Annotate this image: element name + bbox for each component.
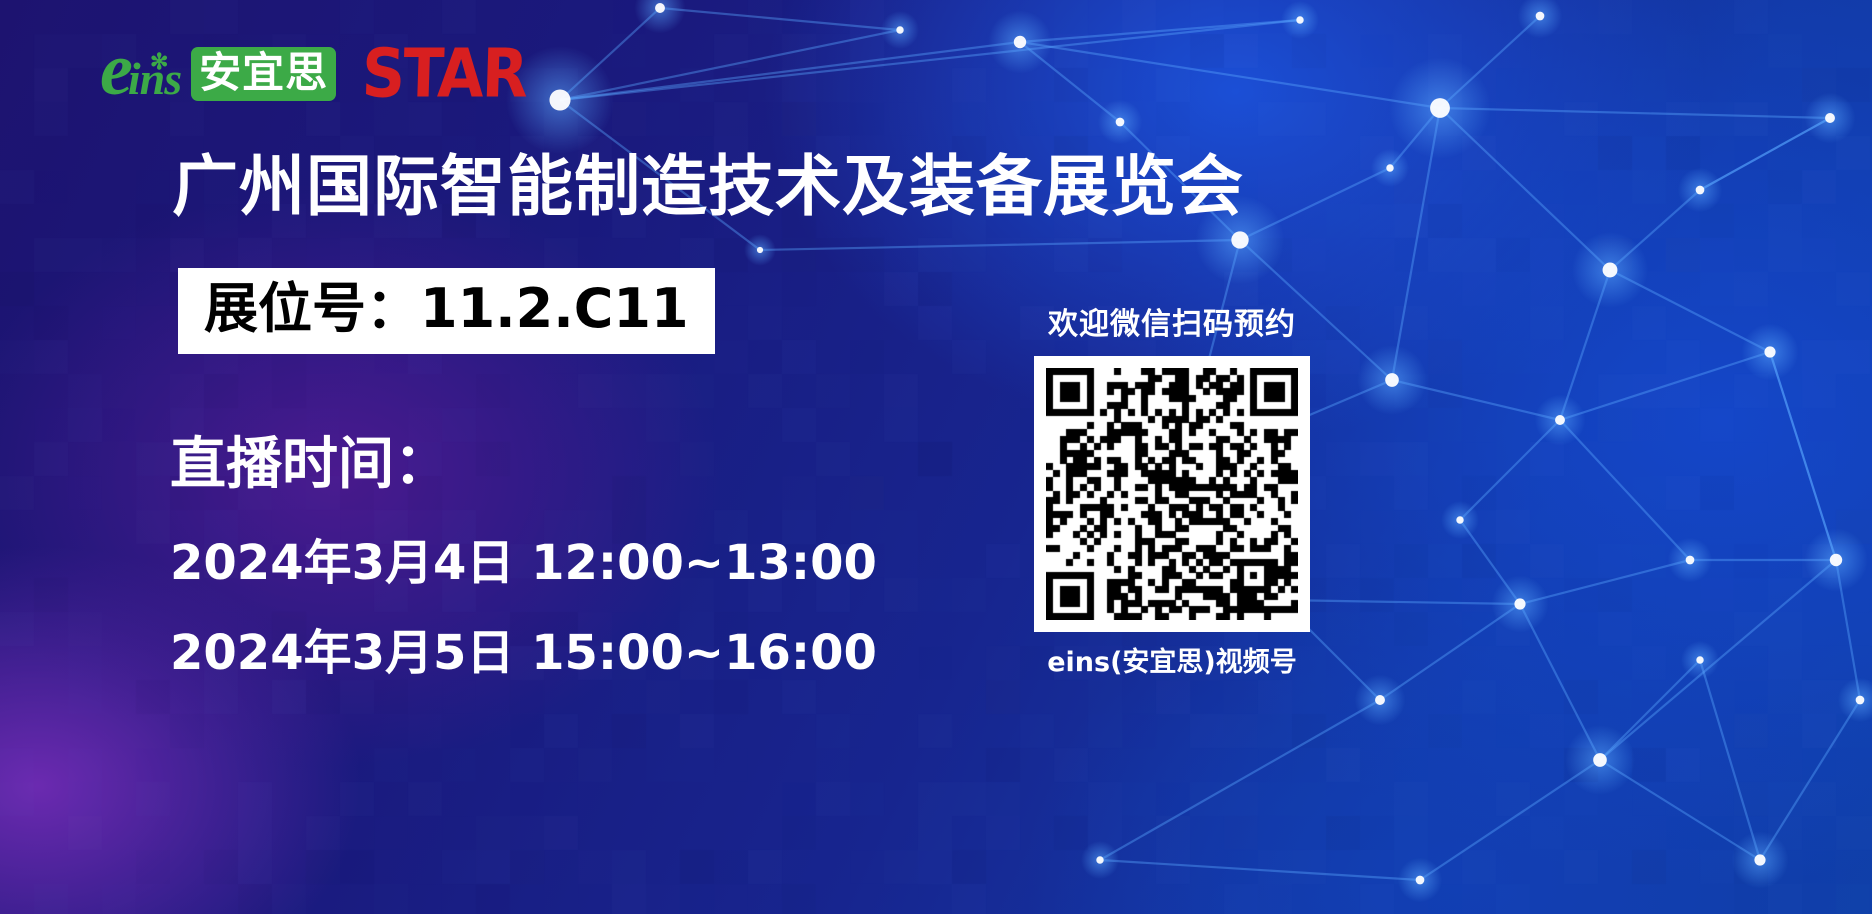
qr-code-canvas [1046,368,1298,620]
live-session-row: 2024年3月5日 15:00~16:00 [170,624,877,682]
eins-chinese-logo-text: 安宜思 [199,51,328,95]
star-logo: STAR [361,40,527,107]
logo-row: e ✻ ins 安宜思 STAR [100,38,526,110]
promo-banner: e ✻ ins 安宜思 STAR 广州国际智能制造技术及装备展览会 展位号：11… [0,0,1872,914]
sparkle-icon: ✻ [150,51,167,73]
booth-number-text: 展位号：11.2.C11 [204,278,689,340]
live-schedule-title: 直播时间： [170,432,450,498]
live-session-row: 2024年3月4日 12:00~13:00 [170,534,877,592]
eins-logo: e ✻ ins [100,41,181,108]
booth-number-badge: 展位号：11.2.C11 [178,268,715,354]
qr-block: 欢迎微信扫码预约 eins(安宜思)视频号 [1022,306,1322,680]
qr-caption-top: 欢迎微信扫码预约 [1022,306,1322,344]
qr-code-icon[interactable] [1034,356,1310,632]
eins-chinese-logo: 安宜思 [191,47,336,101]
qr-caption-bottom: eins(安宜思)视频号 [1022,646,1322,680]
page-title: 广州国际智能制造技术及装备展览会 [172,148,1244,226]
